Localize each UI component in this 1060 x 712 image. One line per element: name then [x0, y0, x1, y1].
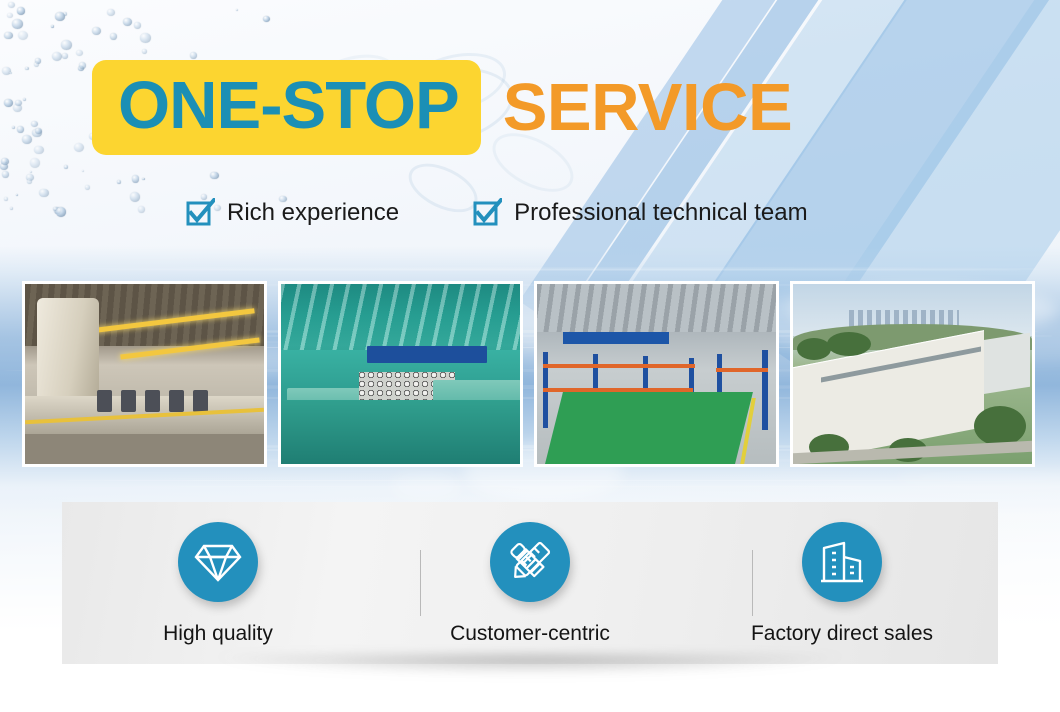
- feature-factory-direct-sales[interactable]: Factory direct sales: [686, 502, 998, 664]
- factory-photo-strip: [22, 281, 1035, 467]
- feature-row: High quality Customer-centric: [62, 502, 998, 664]
- headline: ONE-STOP SERVICE: [92, 60, 792, 155]
- check-feature-row: Rich experience Professional technical t…: [186, 198, 808, 227]
- ruler-pencil-icon: [490, 522, 570, 602]
- checkbox-checked-icon: [186, 198, 215, 227]
- badge-label: ONE-STOP: [118, 72, 459, 139]
- feature-label: Customer-centric: [450, 622, 610, 646]
- buildings-icon: [802, 522, 882, 602]
- check-item-rich-experience: Rich experience: [186, 198, 399, 227]
- one-stop-badge: ONE-STOP: [92, 60, 481, 155]
- checkbox-checked-icon: [473, 198, 502, 227]
- check-label: Professional technical team: [514, 199, 807, 227]
- one-stop-service-banner: ONE-STOP SERVICE Rich experience Profess…: [0, 0, 1060, 712]
- service-label: SERVICE: [503, 74, 792, 141]
- feature-high-quality[interactable]: High quality: [62, 502, 374, 664]
- check-label: Rich experience: [227, 199, 399, 227]
- check-item-professional-team: Professional technical team: [473, 198, 807, 227]
- photo-pipe-warehouse: [278, 281, 523, 467]
- feature-divider: [752, 550, 753, 616]
- photo-parts-warehouse: [534, 281, 779, 467]
- photo-extrusion-line: [22, 281, 267, 467]
- diamond-icon: [178, 522, 258, 602]
- photo-factory-aerial: [790, 281, 1035, 467]
- feature-label: Factory direct sales: [751, 622, 933, 646]
- feature-divider: [420, 550, 421, 616]
- feature-label: High quality: [163, 622, 273, 646]
